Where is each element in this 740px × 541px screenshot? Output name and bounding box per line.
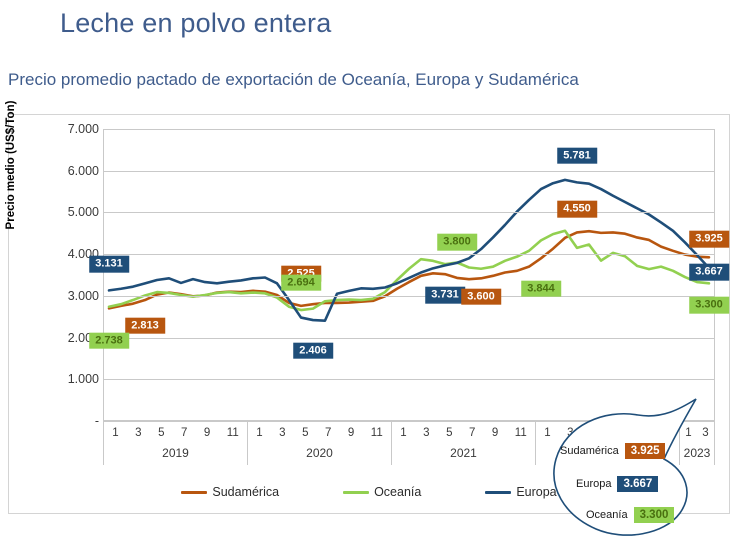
plot-area: 3.1312.8132.7382.5252.6942.4063.8003.731… (103, 129, 715, 421)
x-axis-month-tick: 5 (158, 427, 164, 439)
y-axis-tick: 3.000 (39, 289, 99, 303)
data-label: 4.550 (557, 201, 597, 218)
x-axis-month-tick: 11 (227, 427, 239, 439)
x-axis-month-ticks: 1357911 (104, 423, 247, 443)
gridline (103, 379, 715, 380)
x-axis-month-ticks: 1357911 (248, 423, 391, 443)
x-axis-month-tick: 5 (302, 427, 308, 439)
gridline (103, 254, 715, 255)
x-axis-year-group: 13579112019 (103, 421, 247, 465)
x-axis-month-tick: 1 (112, 427, 118, 439)
gridline (103, 171, 715, 172)
y-axis-title: Precio medio (US$/Ton) (5, 65, 17, 265)
x-axis-month-tick: 9 (348, 427, 354, 439)
callout-row: Sudamérica3.925 (560, 443, 665, 459)
legend-swatch (181, 491, 207, 494)
data-label: 3.925 (689, 231, 729, 248)
callout-row: Oceanía3.300 (586, 507, 674, 523)
x-axis-year-label: 2019 (104, 443, 247, 463)
y-axis-tick: 1.000 (39, 372, 99, 386)
chart-container: Precio medio (US$/Ton) 7.0006.0005.0004.… (8, 114, 730, 514)
callout-series-value: 3.667 (617, 476, 658, 492)
x-axis-month-tick: 7 (469, 427, 475, 439)
legend-label: Oceanía (374, 485, 421, 499)
summary-callout: Sudamérica3.925Europa3.667Oceanía3.300 (546, 393, 706, 541)
y-axis-ticks: 7.0006.0005.0004.0003.0002.0001.000- (37, 115, 99, 513)
y-axis-tick: 7.000 (39, 122, 99, 136)
data-label: 2.694 (281, 274, 321, 291)
data-label: 3.800 (437, 234, 477, 251)
page-subtitle: Precio promedio pactado de exportación d… (8, 70, 579, 90)
series-line (109, 231, 709, 310)
data-label: 2.813 (125, 317, 165, 334)
callout-series-value: 3.925 (625, 443, 666, 459)
x-axis-month-tick: 7 (325, 427, 331, 439)
x-axis-month-tick: 9 (204, 427, 210, 439)
page-title: Leche en polvo entera (60, 8, 331, 39)
data-label: 3.731 (425, 287, 465, 304)
series-line (109, 180, 709, 321)
callout-series-name: Europa (576, 478, 611, 490)
x-axis-month-tick: 9 (492, 427, 498, 439)
x-axis-month-tick: 11 (515, 427, 527, 439)
gridline (103, 212, 715, 213)
x-axis-year-label: 2021 (392, 443, 535, 463)
x-axis-month-tick: 3 (135, 427, 141, 439)
x-axis-month-ticks: 1357911 (392, 423, 535, 443)
x-axis-month-tick: 3 (423, 427, 429, 439)
x-axis-month-tick: 1 (256, 427, 262, 439)
x-axis-month-tick: 11 (371, 427, 383, 439)
x-axis-year-group: 13579112021 (391, 421, 535, 465)
data-label: 5.781 (557, 148, 597, 165)
callout-series-value: 3.300 (634, 507, 675, 523)
series-lines (103, 129, 715, 421)
callout-series-name: Sudamérica (560, 445, 619, 457)
data-label: 2.406 (293, 342, 333, 359)
legend-item[interactable]: Oceanía (343, 485, 421, 499)
data-label: 3.300 (689, 297, 729, 314)
data-label: 2.738 (89, 332, 129, 349)
data-label: 3.667 (689, 264, 729, 281)
y-axis-tick: 6.000 (39, 164, 99, 178)
x-axis-month-tick: 3 (279, 427, 285, 439)
y-axis-tick: 5.000 (39, 205, 99, 219)
callout-series-name: Oceanía (586, 509, 628, 521)
callout-row: Europa3.667 (576, 476, 658, 492)
data-label: 3.844 (521, 280, 561, 297)
x-axis-month-tick: 5 (446, 427, 452, 439)
x-axis-year-label: 2020 (248, 443, 391, 463)
gridline (103, 129, 715, 130)
x-axis-year-group: 13579112020 (247, 421, 391, 465)
y-axis-tick: - (39, 414, 99, 428)
legend-label: Sudamérica (212, 485, 279, 499)
data-label: 3.131 (89, 256, 129, 273)
legend-item[interactable]: Sudamérica (181, 485, 279, 499)
data-label: 3.600 (461, 289, 501, 306)
x-axis-month-tick: 1 (400, 427, 406, 439)
legend-swatch (343, 491, 369, 494)
gridline (103, 338, 715, 339)
gridline (103, 296, 715, 297)
legend-swatch (485, 491, 511, 494)
x-axis-month-tick: 7 (181, 427, 187, 439)
